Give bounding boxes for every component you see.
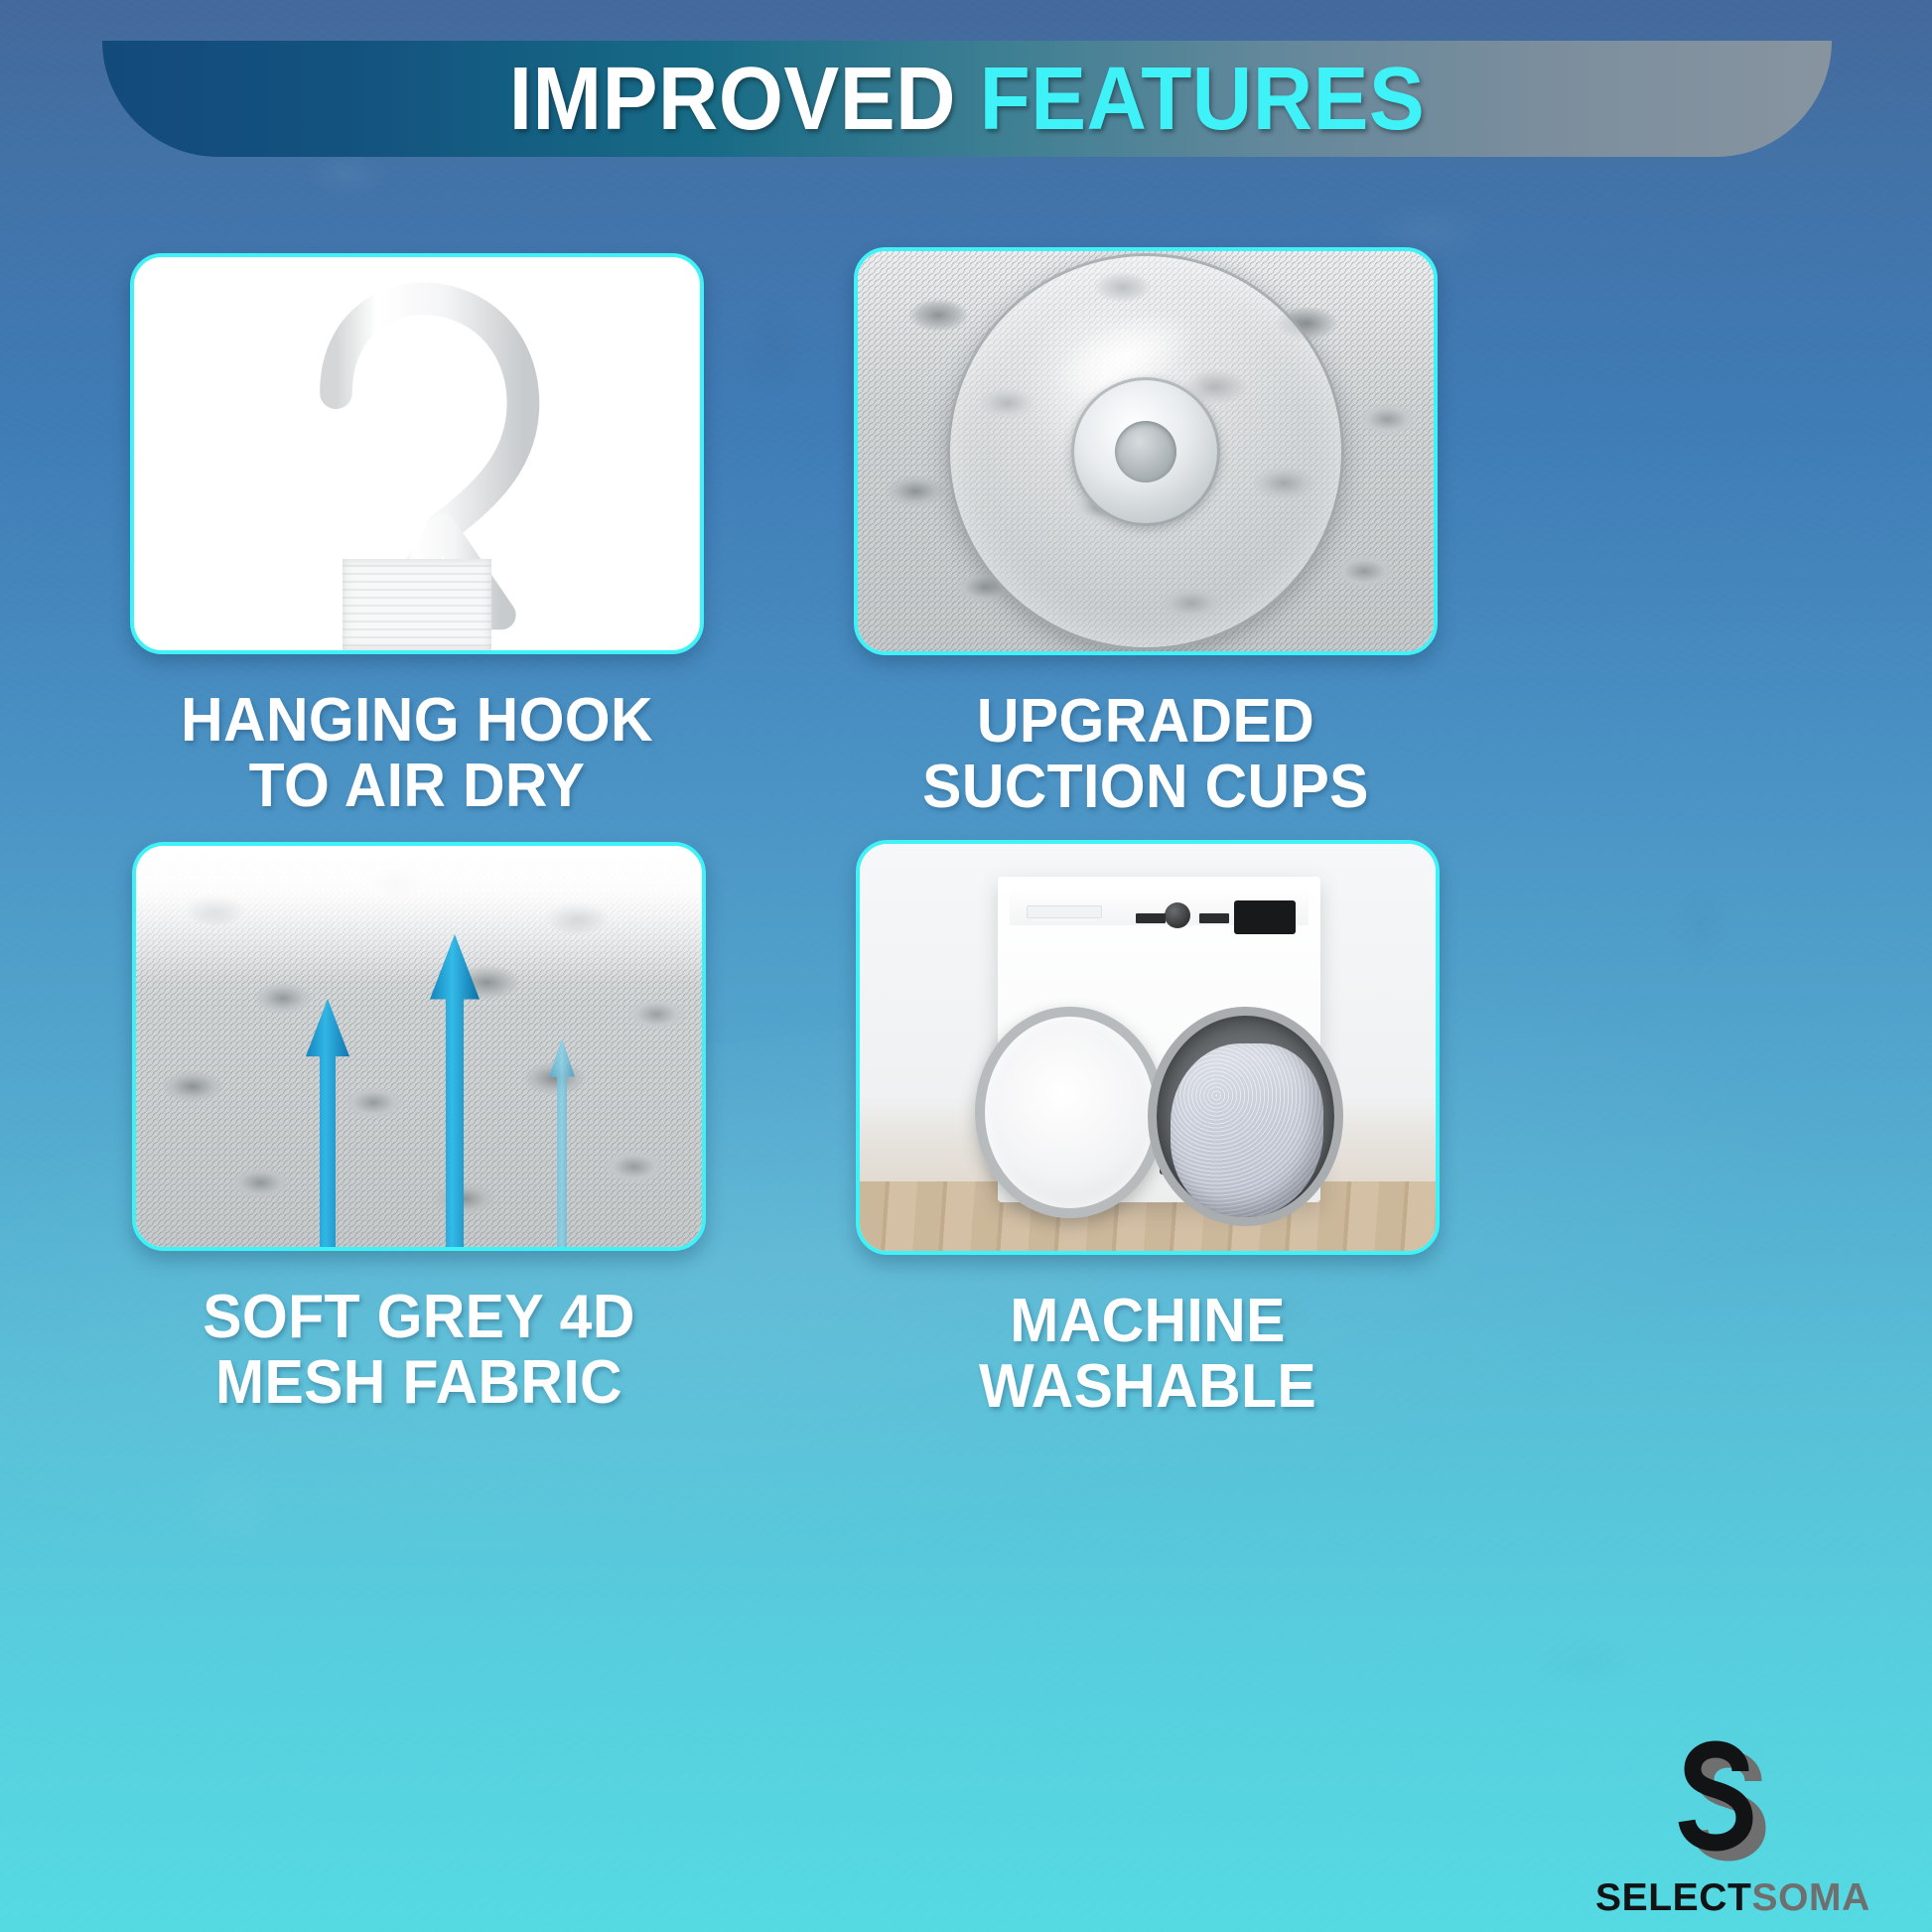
feature-caption-line2: TO AIR DRY <box>144 754 689 819</box>
feature-suction-cups: UPGRADED SUCTION CUPS <box>854 247 1438 821</box>
page-title-part1: IMPROVED <box>509 50 956 149</box>
page-title-part2: FEATURES <box>980 50 1426 149</box>
mesh-fabric-image <box>136 846 702 1247</box>
suction-cup-center-nub <box>1115 421 1176 483</box>
washing-machine-image <box>860 844 1436 1251</box>
feature-image-card <box>854 247 1438 655</box>
airflow-arrow-center <box>430 934 480 1247</box>
suction-cup-image <box>858 251 1434 651</box>
suction-cup-inner-ring <box>1071 377 1220 526</box>
feature-caption: HANGING HOOK TO AIR DRY <box>144 688 689 820</box>
washer-door-open <box>975 1007 1165 1218</box>
mesh-cushion-in-drum <box>1171 1043 1323 1217</box>
feature-hanging-hook: HANGING HOOK TO AIR DRY <box>130 253 704 820</box>
detergent-drawer <box>1027 905 1101 918</box>
brand-logo: SELECTSOMA <box>1595 1737 1844 1917</box>
feature-caption: SOFT GREY 4D MESH FABRIC <box>146 1285 691 1417</box>
feature-caption-line2: WASHABLE <box>871 1354 1426 1420</box>
feature-caption-line2: SUCTION CUPS <box>869 755 1424 820</box>
suction-cup-disc <box>947 253 1344 650</box>
washer-display <box>1234 900 1296 934</box>
mesh-top-fade <box>136 846 702 982</box>
interlocking-double-s-logo-icon <box>1658 1737 1782 1864</box>
page-title: IMPROVED FEATURES <box>509 55 1426 144</box>
control-segment-right <box>1199 913 1229 923</box>
feature-caption: UPGRADED SUCTION CUPS <box>869 689 1424 821</box>
feature-caption-line1: SOFT GREY 4D <box>146 1285 691 1350</box>
feature-caption-line1: MACHINE <box>871 1289 1426 1354</box>
feature-caption: MACHINE WASHABLE <box>871 1289 1426 1421</box>
header-banner: IMPROVED FEATURES <box>102 41 1832 157</box>
hook-strap <box>343 559 491 650</box>
brand-name-part1: SELECT <box>1595 1876 1751 1919</box>
feature-caption-line2: MESH FABRIC <box>146 1350 691 1416</box>
feature-image-card <box>130 253 704 654</box>
feature-caption-line1: UPGRADED <box>869 689 1424 755</box>
feature-mesh-fabric: SOFT GREY 4D MESH FABRIC <box>132 842 706 1417</box>
feature-caption-line1: HANGING HOOK <box>144 688 689 754</box>
feature-image-card <box>856 840 1440 1255</box>
hanging-hook-image <box>134 257 700 650</box>
washer-drum <box>1148 1007 1343 1226</box>
airflow-arrow-right <box>549 1038 575 1247</box>
control-segment-left <box>1136 913 1166 923</box>
feature-image-card <box>132 842 706 1251</box>
brand-wordmark: SELECTSOMA <box>1595 1878 1844 1917</box>
brand-name-part2: SOMA <box>1751 1876 1869 1919</box>
airflow-arrow-left <box>306 999 349 1247</box>
feature-machine-washable: MACHINE WASHABLE <box>856 840 1440 1421</box>
